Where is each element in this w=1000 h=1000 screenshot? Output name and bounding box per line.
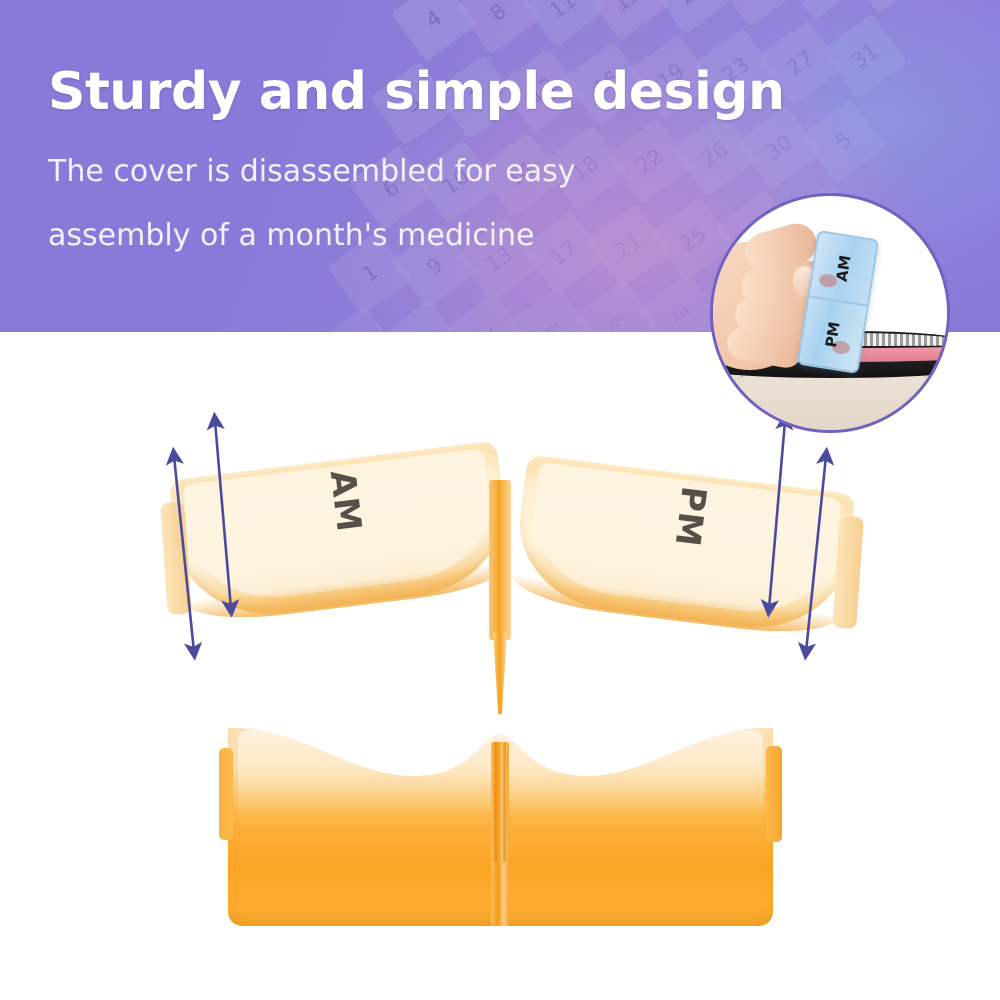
subtitle-line-2: assembly of a month's medicine [48,218,535,253]
page-title: Sturdy and simple design [48,62,785,122]
pillbox-pm-label: PM [822,320,844,348]
pill-cell-am: AM [315,306,400,332]
pill-cell: 22 [607,119,692,204]
pill-cell: 28 [779,0,864,21]
base-left-notch [219,748,233,840]
subtitle-line-1: The cover is disassembled for easy [48,154,576,189]
inset-photo-circle: AM PM [710,193,950,433]
base-right-notch [766,746,782,842]
lid-half-am: AM [168,440,513,624]
product-illustration: AM PM [0,332,1000,1000]
pillbox-am-label: AM [832,254,854,283]
pill-cell: 5 [801,98,886,183]
pill-cell: 31 [822,14,907,99]
pillbox-pm-compartment: PM [799,297,867,371]
pillbox-am-compartment: AM [809,232,877,306]
pill-cell: 21 [586,203,671,288]
pill-cell: 24 [714,0,799,28]
pill-cell: 8 [456,0,541,55]
pill-cell-am: AM [380,300,465,332]
pill-cell: 4 [391,0,476,62]
pill-cell: 9 [843,0,928,14]
pill-cell-am: AM [509,286,594,332]
pill-strip-row: AM AM AM AM AM AM [324,281,718,332]
pill-cell: 26 [672,112,757,197]
pill-cell-am: AM [574,279,659,332]
lid-center-tip [493,632,507,717]
base-center-divider [491,742,509,926]
lid-center-spine [489,480,511,640]
lid-half-pm: PM [510,454,855,638]
pill-strip-row: 4 8 11 15 20 24 28 9 [400,0,923,52]
pill-cell: 11 [520,0,605,48]
pill-cell-am: AM [444,293,529,332]
lid-label-pm: PM [667,484,714,549]
lid-label-am: AM [322,468,369,535]
pill-cell: 20 [650,0,735,34]
base-tray [228,714,773,926]
pill-cell: 15 [585,0,670,41]
